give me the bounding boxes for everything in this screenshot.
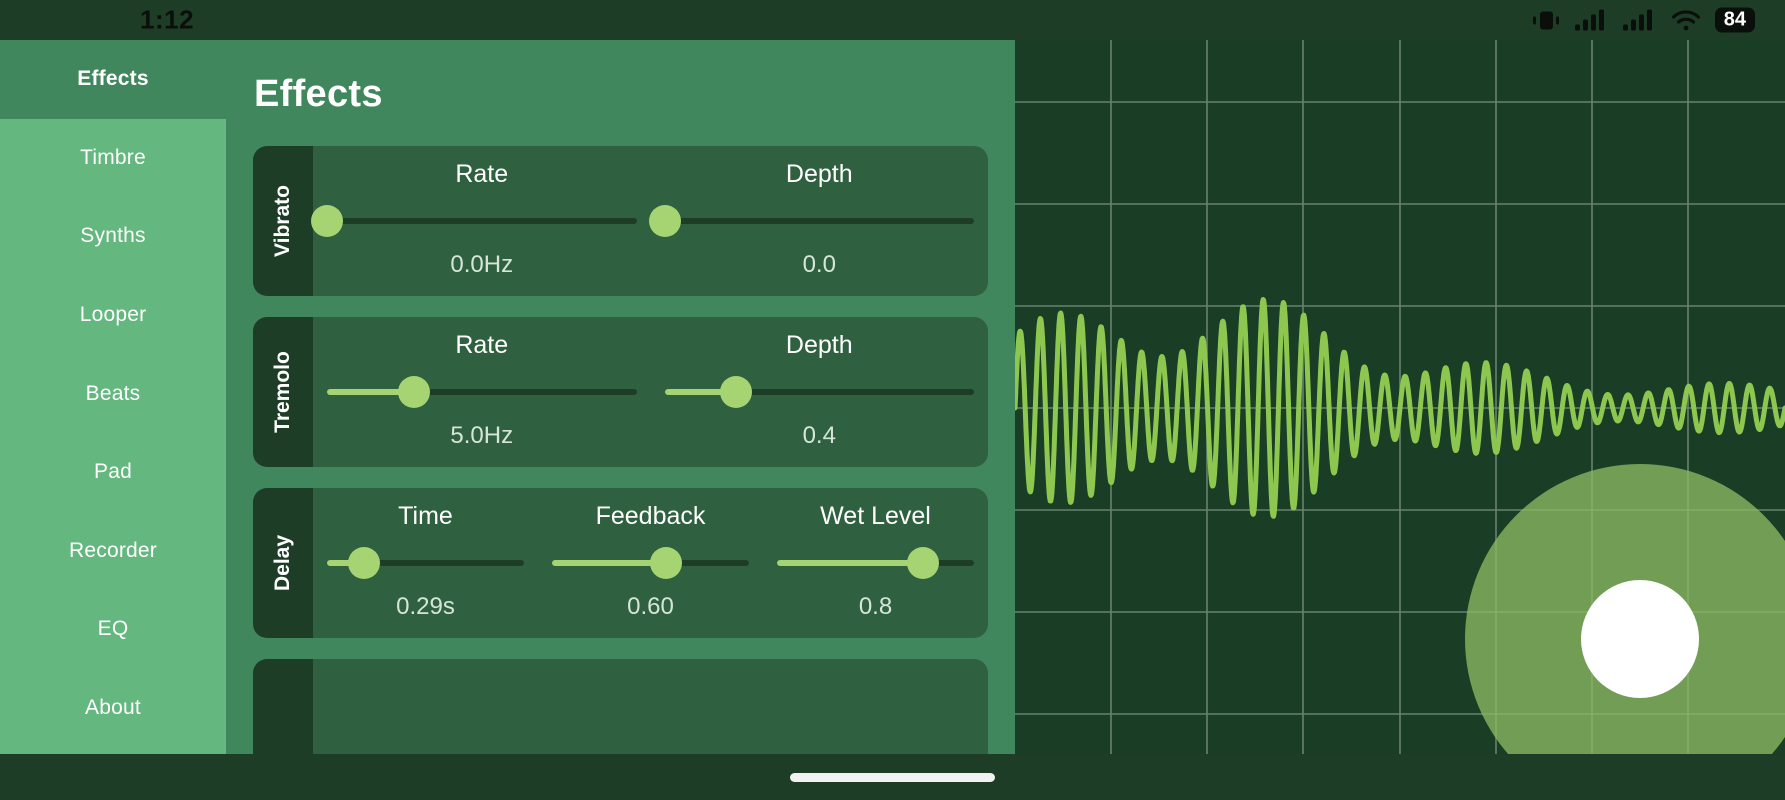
effect-card-delay: Delay Time 0.29s xyxy=(253,488,988,638)
battery-indicator: 84 xyxy=(1715,8,1755,33)
slider-delay-feedback[interactable] xyxy=(552,551,749,575)
slider-group-vibrato-depth: Depth 0.0 xyxy=(651,160,989,279)
slider-label: Rate xyxy=(455,160,508,189)
status-icons: 84 xyxy=(1531,8,1755,33)
slider-thumb[interactable] xyxy=(649,205,681,237)
slider-thumb[interactable] xyxy=(907,547,939,579)
slider-value: 0.0Hz xyxy=(450,251,513,279)
sidebar-item-recorder[interactable]: Recorder xyxy=(0,512,226,591)
slider-tremolo-depth[interactable] xyxy=(665,380,975,404)
sidebar-item-eq[interactable]: EQ xyxy=(0,590,226,669)
wifi-icon xyxy=(1671,8,1701,32)
slider-label: Time xyxy=(398,502,453,531)
app-body: Effects Timbre Synths Looper Beats Pad R… xyxy=(0,40,1785,754)
card-tab-label: Tremolo xyxy=(271,351,295,433)
effect-card-tremolo: Tremolo Rate 5.0Hz xyxy=(253,317,988,467)
slider-thumb[interactable] xyxy=(650,547,682,579)
slider-thumb[interactable] xyxy=(720,376,752,408)
slider-track xyxy=(327,218,637,224)
sidebar-item-timbre[interactable]: Timbre xyxy=(0,119,226,198)
slider-group-delay-time: Time 0.29s xyxy=(313,502,538,621)
signal-sim1-icon xyxy=(1575,8,1609,32)
slider-track xyxy=(665,218,975,224)
slider-group-delay-feedback: Feedback 0.60 xyxy=(538,502,763,621)
status-bar: 1:12 84 xyxy=(0,0,1785,40)
card-tab-delay: Delay xyxy=(253,488,313,638)
sidebar-item-beats[interactable]: Beats xyxy=(0,354,226,433)
card-body-vibrato: Rate 0.0Hz Depth xyxy=(313,146,988,296)
oscilloscope[interactable] xyxy=(1015,40,1785,754)
slider-group-tremolo-depth: Depth 0.4 xyxy=(651,331,989,450)
slider-label: Feedback xyxy=(596,502,706,531)
slider-group-tremolo-rate: Rate 5.0Hz xyxy=(313,331,651,450)
card-tab-next xyxy=(253,659,313,754)
sidebar: Effects Timbre Synths Looper Beats Pad R… xyxy=(0,40,226,754)
card-body-delay: Time 0.29s Feedback xyxy=(313,488,988,638)
card-tab-tremolo: Tremolo xyxy=(253,317,313,467)
sidebar-item-pad[interactable]: Pad xyxy=(0,433,226,512)
slider-label: Rate xyxy=(455,331,508,360)
slider-value: 0.0 xyxy=(803,251,836,279)
slider-delay-time[interactable] xyxy=(327,551,524,575)
sidebar-item-effects[interactable]: Effects xyxy=(0,40,226,119)
card-body-next xyxy=(313,659,988,754)
home-indicator[interactable] xyxy=(790,773,995,782)
record-button-inner xyxy=(1581,580,1699,698)
slider-vibrato-rate[interactable] xyxy=(327,209,637,233)
slider-group-vibrato-rate: Rate 0.0Hz xyxy=(313,160,651,279)
signal-sim2-icon xyxy=(1623,8,1657,32)
slider-value: 0.60 xyxy=(627,593,674,621)
slider-thumb[interactable] xyxy=(398,376,430,408)
slider-delay-wet-level[interactable] xyxy=(777,551,974,575)
slider-thumb[interactable] xyxy=(348,547,380,579)
effects-card-list: Vibrato Rate 0.0Hz xyxy=(226,146,1015,754)
slider-value: 5.0Hz xyxy=(450,422,513,450)
status-clock: 1:12 xyxy=(140,5,194,36)
card-tab-vibrato: Vibrato xyxy=(253,146,313,296)
slider-tremolo-rate[interactable] xyxy=(327,380,637,404)
card-tab-label: Vibrato xyxy=(271,185,295,257)
effects-panel: Effects Vibrato Rate xyxy=(226,40,1015,754)
system-nav-bar xyxy=(0,754,1785,800)
sidebar-item-looper[interactable]: Looper xyxy=(0,276,226,355)
slider-fill xyxy=(777,560,923,566)
effect-card-vibrato: Vibrato Rate 0.0Hz xyxy=(253,146,988,296)
slider-value: 0.29s xyxy=(396,593,455,621)
vibrate-icon xyxy=(1531,8,1561,32)
slider-label: Wet Level xyxy=(820,502,931,531)
slider-label: Depth xyxy=(786,331,853,360)
slider-value: 0.8 xyxy=(859,593,892,621)
card-body-tremolo: Rate 5.0Hz Depth xyxy=(313,317,988,467)
slider-value: 0.4 xyxy=(803,422,836,450)
sidebar-item-synths[interactable]: Synths xyxy=(0,197,226,276)
slider-vibrato-depth[interactable] xyxy=(665,209,975,233)
app-root: 1:12 84 xyxy=(0,0,1785,800)
slider-label: Depth xyxy=(786,160,853,189)
page-title: Effects xyxy=(254,73,383,116)
sidebar-item-about[interactable]: About xyxy=(0,669,226,748)
slider-group-delay-wet-level: Wet Level 0.8 xyxy=(763,502,988,621)
slider-thumb[interactable] xyxy=(311,205,343,237)
effect-card-next-partial[interactable] xyxy=(253,659,988,754)
card-tab-label: Delay xyxy=(271,535,295,591)
slider-fill xyxy=(552,560,666,566)
